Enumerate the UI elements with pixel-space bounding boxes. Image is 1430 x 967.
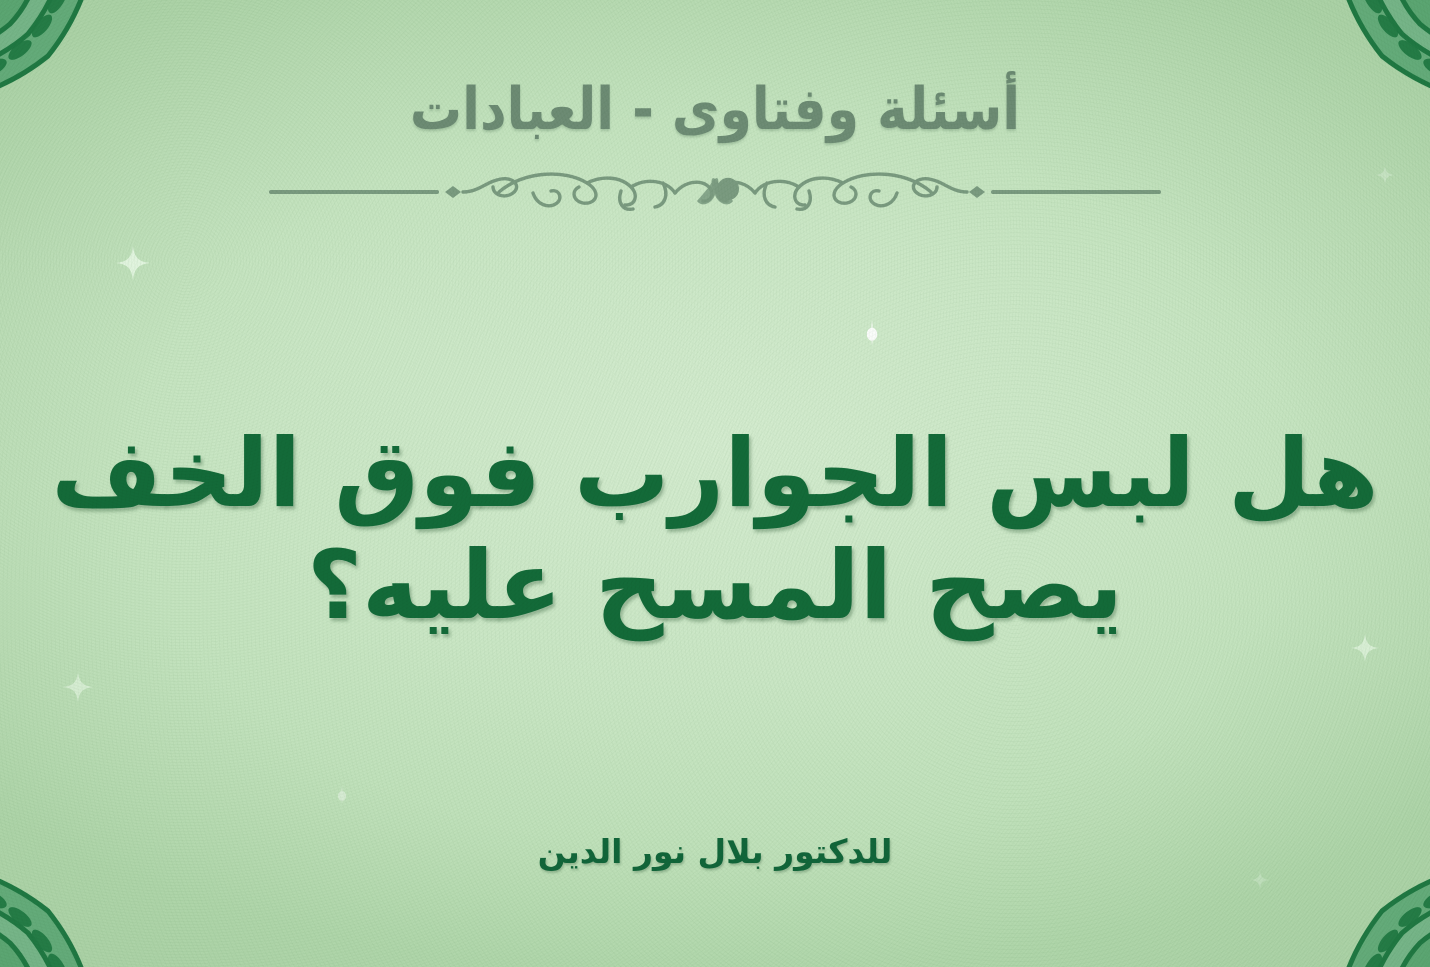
sparkle-glint-icon [332,785,352,805]
ornamental-flourish-divider-icon [265,161,1165,223]
attribution-block: للدكتور بلال نور الدين [0,832,1430,871]
header-band: أسئلة وفتاوى - العبادات [0,78,1430,223]
headline-block: هل لبس الجوارب فوق الخف يصح المسح عليه؟ [0,418,1430,642]
poster-card: أسئلة وفتاوى - العبادات [0,0,1430,967]
corner-ornament-bottom-left [0,779,180,967]
sparkle-star-icon [1251,871,1269,889]
question-headline: هل لبس الجوارب فوق الخف يصح المسح عليه؟ [10,418,1420,642]
corner-ornament-bottom-right [1250,779,1430,967]
author-attribution: للدكتور بلال نور الدين [0,832,1430,871]
sparkle-star-icon [116,246,150,280]
category-kicker: أسئلة وفتاوى - العبادات [0,74,1430,147]
sparkle-star-icon [63,672,93,702]
sparkle-glint-icon [859,320,885,346]
